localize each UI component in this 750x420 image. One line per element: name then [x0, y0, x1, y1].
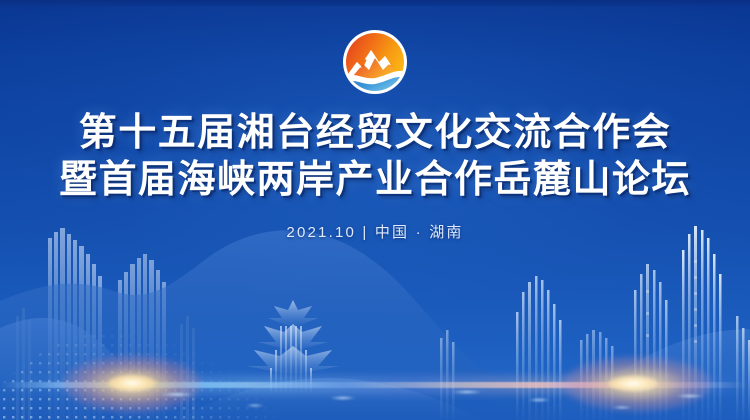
title-block: 第十五届湘台经贸文化交流合作会 暨首届海峡两岸产业合作岳麓山论坛 2021.10…: [0, 108, 750, 242]
horizon-speckle: [330, 396, 356, 400]
subtitle-date-location: 2021.10 | 中国 · 湖南: [0, 221, 750, 242]
horizon-speckle: [246, 404, 264, 407]
horizon-speckle: [676, 394, 704, 398]
halftone-dot-arc: [0, 306, 274, 420]
horizon-speckle: [612, 406, 632, 409]
conference-banner: 第十五届湘台经贸文化交流合作会 暨首届海峡两岸产业合作岳麓山论坛 2021.10…: [0, 0, 750, 420]
top-border-strip: [0, 0, 750, 6]
horizon-light-streak: [0, 382, 750, 388]
logo-svg: [341, 28, 409, 96]
title-line-1: 第十五届湘台经贸文化交流合作会: [0, 108, 750, 155]
horizon-speckle: [452, 390, 482, 394]
title-line-2: 暨首届海峡两岸产业合作岳麓山论坛: [0, 155, 750, 202]
horizon-speckle: [528, 398, 550, 402]
mountain-water-circle-logo: [341, 28, 409, 96]
horizon-speckle: [160, 392, 194, 397]
